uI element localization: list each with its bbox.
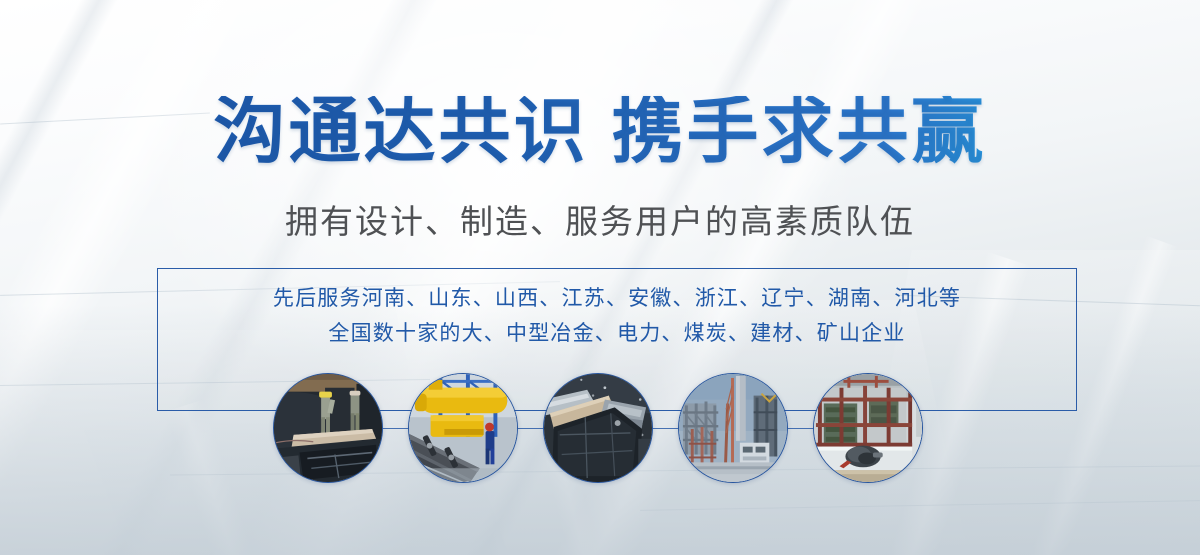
photo-circle-row	[0, 373, 1200, 485]
yellow-equipment-pipeline-image	[409, 374, 517, 482]
info-line-1: 先后服务河南、山东、山西、江苏、安徽、浙江、辽宁、湖南、河北等	[157, 281, 1077, 316]
info-box-text: 先后服务河南、山东、山西、江苏、安徽、浙江、辽宁、湖南、河北等 全国数十家的大、…	[157, 281, 1077, 351]
banner-content: 沟通达共识 携手求共赢 拥有设计、制造、服务用户的高素质队伍 先后服务河南、山东…	[0, 0, 1200, 555]
photo-circle-tank-lining-installation[interactable]	[273, 373, 383, 483]
photo-circle-power-plant-construction[interactable]	[678, 373, 788, 483]
info-line-2: 全国数十家的大、中型冶金、电力、煤炭、建材、矿山企业	[157, 316, 1077, 351]
steel-structure-duct-image	[544, 374, 652, 482]
banner-subtitle: 拥有设计、制造、服务用户的高素质队伍	[0, 202, 1200, 242]
photo-circle-yellow-equipment-pipeline[interactable]	[408, 373, 518, 483]
banner-headline: 沟通达共识 携手求共赢	[0, 96, 1200, 168]
factory-interior-machinery-image	[814, 374, 922, 482]
power-plant-construction-image	[679, 374, 787, 482]
promotional-banner: 沟通达共识 携手求共赢 拥有设计、制造、服务用户的高素质队伍 先后服务河南、山东…	[0, 0, 1200, 555]
tank-lining-installation-image	[274, 374, 382, 482]
photo-circle-factory-interior-machinery[interactable]	[813, 373, 923, 483]
photo-circle-steel-structure-duct[interactable]	[543, 373, 653, 483]
